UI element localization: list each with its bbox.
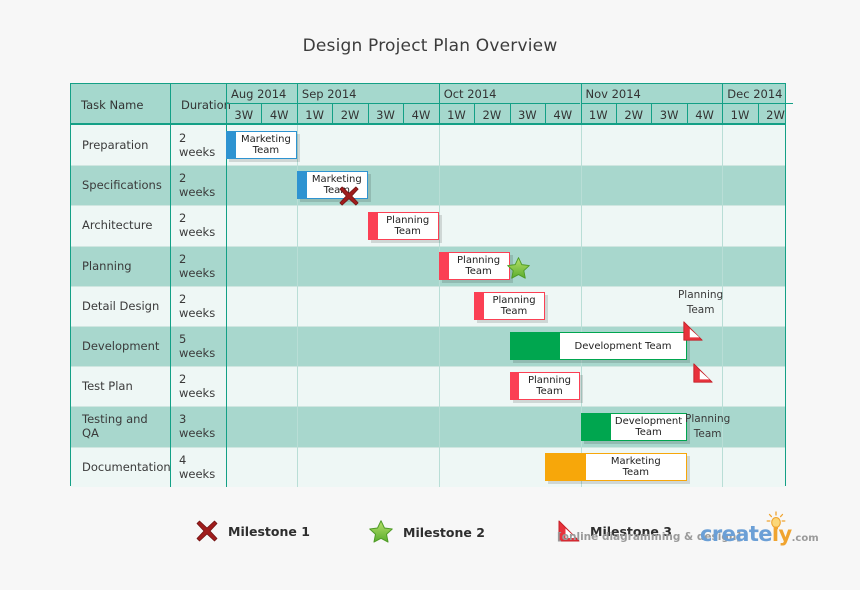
gantt-bar-label: Marketing Team [585,453,687,481]
gantt-bar[interactable]: Marketing Team [226,131,297,159]
task-name-cell: Testing and QA [71,406,168,446]
week-separator [510,104,511,125]
week-header: 4W [545,104,580,125]
task-name-cell: Preparation [71,125,168,165]
row-divider [71,326,785,327]
duration-cell: 2 weeks [170,125,226,165]
creately-logo[interactable]: creately.com [700,522,819,546]
row-divider [71,286,785,287]
column-separator [170,125,171,487]
month-header-3: Oct 2014 [439,84,581,104]
table-row[interactable]: Specifications2 weeks [71,165,785,205]
week-header: 4W [687,104,722,125]
legend-label: Milestone 1 [228,524,310,539]
week-separator [687,104,688,125]
week-header: 1W [297,104,332,125]
gantt-bar[interactable]: Marketing Team [545,453,687,481]
legend-label: Milestone 2 [403,525,485,540]
week-header: 1W [581,104,616,125]
month-gridline [439,125,440,487]
header-separator [226,84,227,125]
page-title: Design Project Plan Overview [0,36,860,56]
bar-annotation-label: Planning Team [666,288,736,318]
month-header-5: Dec 2014 [722,84,793,104]
gantt-bar[interactable]: Development Team [581,413,687,441]
week-header: 2W [474,104,509,125]
gantt-bar[interactable]: Planning Team [510,372,581,400]
duration-cell: 3 weeks [170,406,226,446]
week-separator [474,104,475,125]
task-name-cell: Documentation [71,447,168,487]
gantt-bar[interactable]: Development Team [510,332,687,360]
gantt-bar-label: Planning Team [483,292,545,320]
task-name-cell: Development [71,326,168,366]
duration-cell: 2 weeks [170,286,226,326]
month-header-1: Aug 2014 [226,84,297,104]
duration-cell: 2 weeks [170,165,226,205]
milestone-triangle-icon[interactable] [682,320,704,342]
week-separator [758,104,759,125]
week-header: 2W [616,104,651,125]
week-separator [403,104,404,125]
week-separator [545,104,546,125]
logo-create: create [700,522,772,546]
duration-cell: 4 weeks [170,447,226,487]
header-separator [170,84,171,125]
milestone-star-icon[interactable] [506,256,531,281]
week-separator [368,104,369,125]
week-header: 1W [439,104,474,125]
duration-cell: 2 weeks [170,205,226,245]
week-separator [261,104,262,125]
column-header-task-name: Task Name [71,84,170,125]
week-header: 1W [722,104,757,125]
week-header: 4W [261,104,296,125]
lightbulb-icon [765,511,787,531]
week-header: 2W [758,104,793,125]
task-name-cell: Specifications [71,165,168,205]
table-row[interactable]: Preparation2 weeks [71,125,785,165]
month-header-2: Sep 2014 [297,84,439,104]
week-header: 3W [368,104,403,125]
week-header: 4W [403,104,438,125]
row-divider [71,205,785,206]
gantt-bar-label: Planning Team [518,372,580,400]
gantt-header: Task NameDurationAug 20143W4WSep 20141W2… [71,84,785,125]
bar-annotation-label: Planning Team [673,412,743,442]
gantt-chart: Task NameDurationAug 20143W4WSep 20141W2… [70,83,786,486]
table-row[interactable]: Test Plan2 weeks [71,366,785,406]
column-separator [226,125,227,487]
week-header: 3W [226,104,261,125]
header-separator [722,84,723,125]
week-header: 3W [651,104,686,125]
gantt-bar-label: Marketing Team [235,131,297,159]
gantt-bar[interactable]: Planning Team [439,252,510,280]
gantt-bar-label: Development Team [559,332,687,360]
duration-cell: 2 weeks [170,246,226,286]
task-name-cell: Planning [71,246,168,286]
column-header-duration: Duration [171,84,227,125]
legend-item: Milestone 1 [195,519,310,543]
week-separator [651,104,652,125]
week-separator [332,104,333,125]
gantt-bar[interactable]: Planning Team [368,212,439,240]
row-divider [71,406,785,407]
legend-item: Milestone 2 [368,519,485,545]
header-separator [297,84,298,125]
task-name-cell: Test Plan [71,366,168,406]
milestone-x-mark-icon[interactable] [338,185,360,207]
gantt-bar-label: Planning Team [448,252,510,280]
gantt-bar[interactable]: Planning Team [474,292,545,320]
duration-cell: 5 weeks [170,326,226,366]
task-name-cell: Architecture [71,205,168,245]
header-separator [439,84,440,125]
star-icon [368,519,394,545]
row-divider [71,447,785,448]
row-divider [71,246,785,247]
x-mark-icon [195,519,219,543]
milestone-triangle-icon[interactable] [692,362,714,384]
week-separator [616,104,617,125]
header-separator [581,84,582,125]
month-header-4: Nov 2014 [581,84,723,104]
row-divider [71,165,785,166]
logo-tld: .com [792,533,819,544]
gantt-bar-label: Planning Team [377,212,439,240]
task-name-cell: Detail Design [71,286,168,326]
row-divider [71,366,785,367]
table-row[interactable]: Planning2 weeks [71,246,785,286]
duration-cell: 2 weeks [170,366,226,406]
week-header: 3W [510,104,545,125]
week-header: 2W [332,104,367,125]
